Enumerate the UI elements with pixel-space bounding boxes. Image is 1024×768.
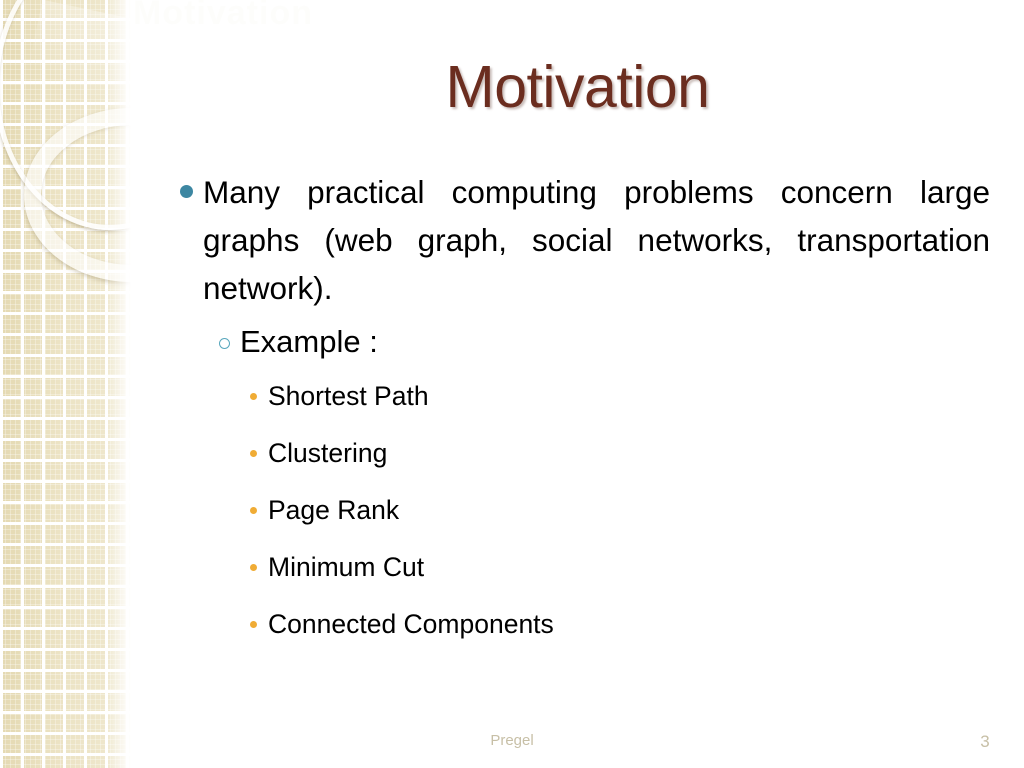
page-number: 3	[940, 732, 1024, 752]
bullet-level3-icon	[250, 621, 257, 628]
page-title: Motivation	[131, 57, 1024, 119]
list-item: Connected Components	[0, 600, 1024, 649]
bullet-level3-icon	[250, 564, 257, 571]
slide-body: Many practical computing problems concer…	[0, 168, 1024, 649]
top-artifact-text: Motivation	[133, 0, 313, 33]
slide-canvas: Motivation Motivation Many practical com…	[0, 0, 1024, 768]
list-item: Many practical computing problems concer…	[0, 168, 1024, 312]
bullet-level2-icon	[219, 338, 230, 349]
list-item-label: Shortest Path	[268, 372, 1024, 421]
list-item: Page Rank	[0, 486, 1024, 535]
bullet-level1-icon	[180, 185, 193, 198]
list-item-label: Example :	[240, 320, 1024, 364]
list-item-label: Connected Components	[268, 600, 1024, 649]
list-item-label: Clustering	[268, 429, 1024, 478]
list-item-label: Minimum Cut	[268, 543, 1024, 592]
slide-footer: Pregel 3	[0, 732, 1024, 760]
list-item-label: Page Rank	[268, 486, 1024, 535]
footer-label: Pregel	[0, 732, 1024, 749]
list-item: Minimum Cut	[0, 543, 1024, 592]
list-item-label: Many practical computing problems concer…	[203, 168, 990, 312]
list-item: Example :	[0, 320, 1024, 364]
bullet-level3-icon	[250, 450, 257, 457]
list-item: Clustering	[0, 429, 1024, 478]
list-item: Shortest Path	[0, 372, 1024, 421]
bullet-level3-icon	[250, 507, 257, 514]
bullet-level3-icon	[250, 393, 257, 400]
